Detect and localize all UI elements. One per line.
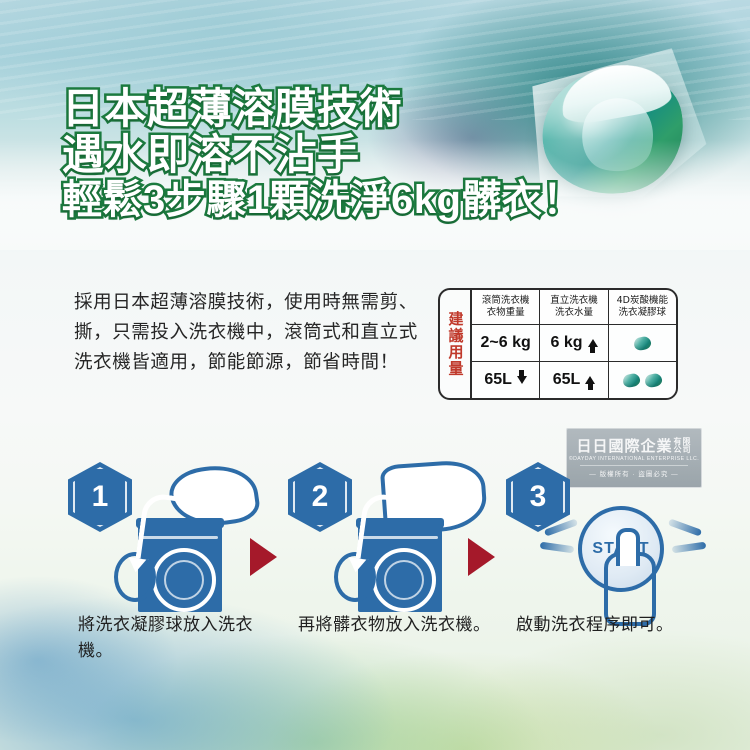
table-header-pods-line2: 洗衣凝膠球 [617, 307, 668, 319]
cell-pods-row2 [609, 362, 676, 398]
promo-poster: 日本超薄溶膜技術 遇水即溶不沾手 輕鬆3步驟1顆洗淨6kg髒衣！ 採用日本超薄溶… [0, 0, 750, 750]
table-header-drum-line2: 衣物重量 [482, 307, 530, 319]
watermark-company-cn: 日日國際企業有限 公司 [576, 438, 691, 455]
table-header-toploader: 直立洗衣機 洗衣水量 [540, 290, 608, 324]
cell-water-row1: 6 kg [540, 325, 608, 361]
cell-water-row2-text: 65L [553, 371, 581, 389]
step-1-number: 1 [92, 480, 109, 514]
cell-weight-row1: 2~6 kg [472, 325, 540, 361]
headline-line-2: 遇水即溶不沾手 [62, 134, 662, 177]
step-3-caption: 啟動洗衣程序即可。 [516, 612, 716, 638]
step-2-number: 2 [312, 480, 329, 514]
headline-line-3: 輕鬆3步驟1顆洗淨6kg髒衣！ [62, 180, 662, 221]
dosage-table-side-label: 建議用量 [440, 290, 472, 398]
table-row: 65L 65L [472, 362, 676, 398]
watermark-company-cn-main: 日日國際企業 [576, 439, 672, 454]
ray-icon [668, 518, 702, 536]
dosage-table-grid: 滾筒洗衣機 衣物重量 直立洗衣機 洗衣水量 4D炭酸機能 洗衣凝膠球 [472, 290, 676, 398]
cell-pods-row1 [609, 325, 676, 361]
product-description: 採用日本超薄溶膜技術，使用時無需剪、撕，只需投入洗衣機中，滾筒式和直立式洗衣機皆… [74, 288, 424, 378]
table-header-toploader-line1: 直立洗衣機 [550, 295, 598, 307]
headline-block: 日本超薄溶膜技術 遇水即溶不沾手 輕鬆3步驟1顆洗淨6kg髒衣！ [62, 88, 662, 220]
arrow-down-icon [517, 376, 527, 384]
dosage-table: 建議用量 滾筒洗衣機 衣物重量 直立洗衣機 洗衣水量 [438, 288, 678, 400]
cell-water-row2: 65L [540, 362, 608, 398]
pod-icon [644, 372, 663, 388]
ray-icon [540, 542, 575, 554]
step-arrow-2-icon [468, 538, 495, 576]
cell-weight-row2-text: 65L [484, 371, 512, 389]
headline-line-1: 日本超薄溶膜技術 [62, 88, 662, 131]
pod-icon [633, 335, 652, 351]
arrow-up-icon [585, 376, 595, 384]
table-header-drum: 滾筒洗衣機 衣物重量 [472, 290, 540, 324]
watermark-company-cn-suffix: 有限 公司 [674, 438, 692, 455]
table-header-pods: 4D炭酸機能 洗衣凝膠球 [609, 290, 676, 324]
dosage-table-side-label-text: 建議用量 [448, 311, 463, 377]
cell-water-row1-text: 6 kg [550, 334, 582, 352]
table-row: 2~6 kg 6 kg [472, 325, 676, 362]
ray-icon [544, 518, 578, 536]
step-arrow-1-icon [250, 538, 277, 576]
pod-icon [622, 372, 641, 388]
table-header-row: 滾筒洗衣機 衣物重量 直立洗衣機 洗衣水量 4D炭酸機能 洗衣凝膠球 [472, 290, 676, 325]
ray-icon [672, 542, 707, 554]
step-1-illustration [110, 488, 260, 613]
table-header-pods-line1: 4D炭酸機能 [617, 295, 668, 307]
table-header-drum-line1: 滾筒洗衣機 [482, 295, 530, 307]
step-1-caption: 將洗衣凝膠球放入洗衣機。 [78, 612, 278, 665]
step-2-caption: 再將髒衣物放入洗衣機。 [298, 612, 498, 638]
arrow-up-icon [588, 339, 598, 347]
step-3-illustration: START [548, 488, 698, 613]
table-header-toploader-line2: 洗衣水量 [550, 307, 598, 319]
step-3-number: 3 [530, 480, 547, 514]
steps-section: 1 2 [0, 460, 750, 670]
step-2-illustration [330, 488, 480, 613]
cell-weight-row2: 65L [472, 362, 540, 398]
